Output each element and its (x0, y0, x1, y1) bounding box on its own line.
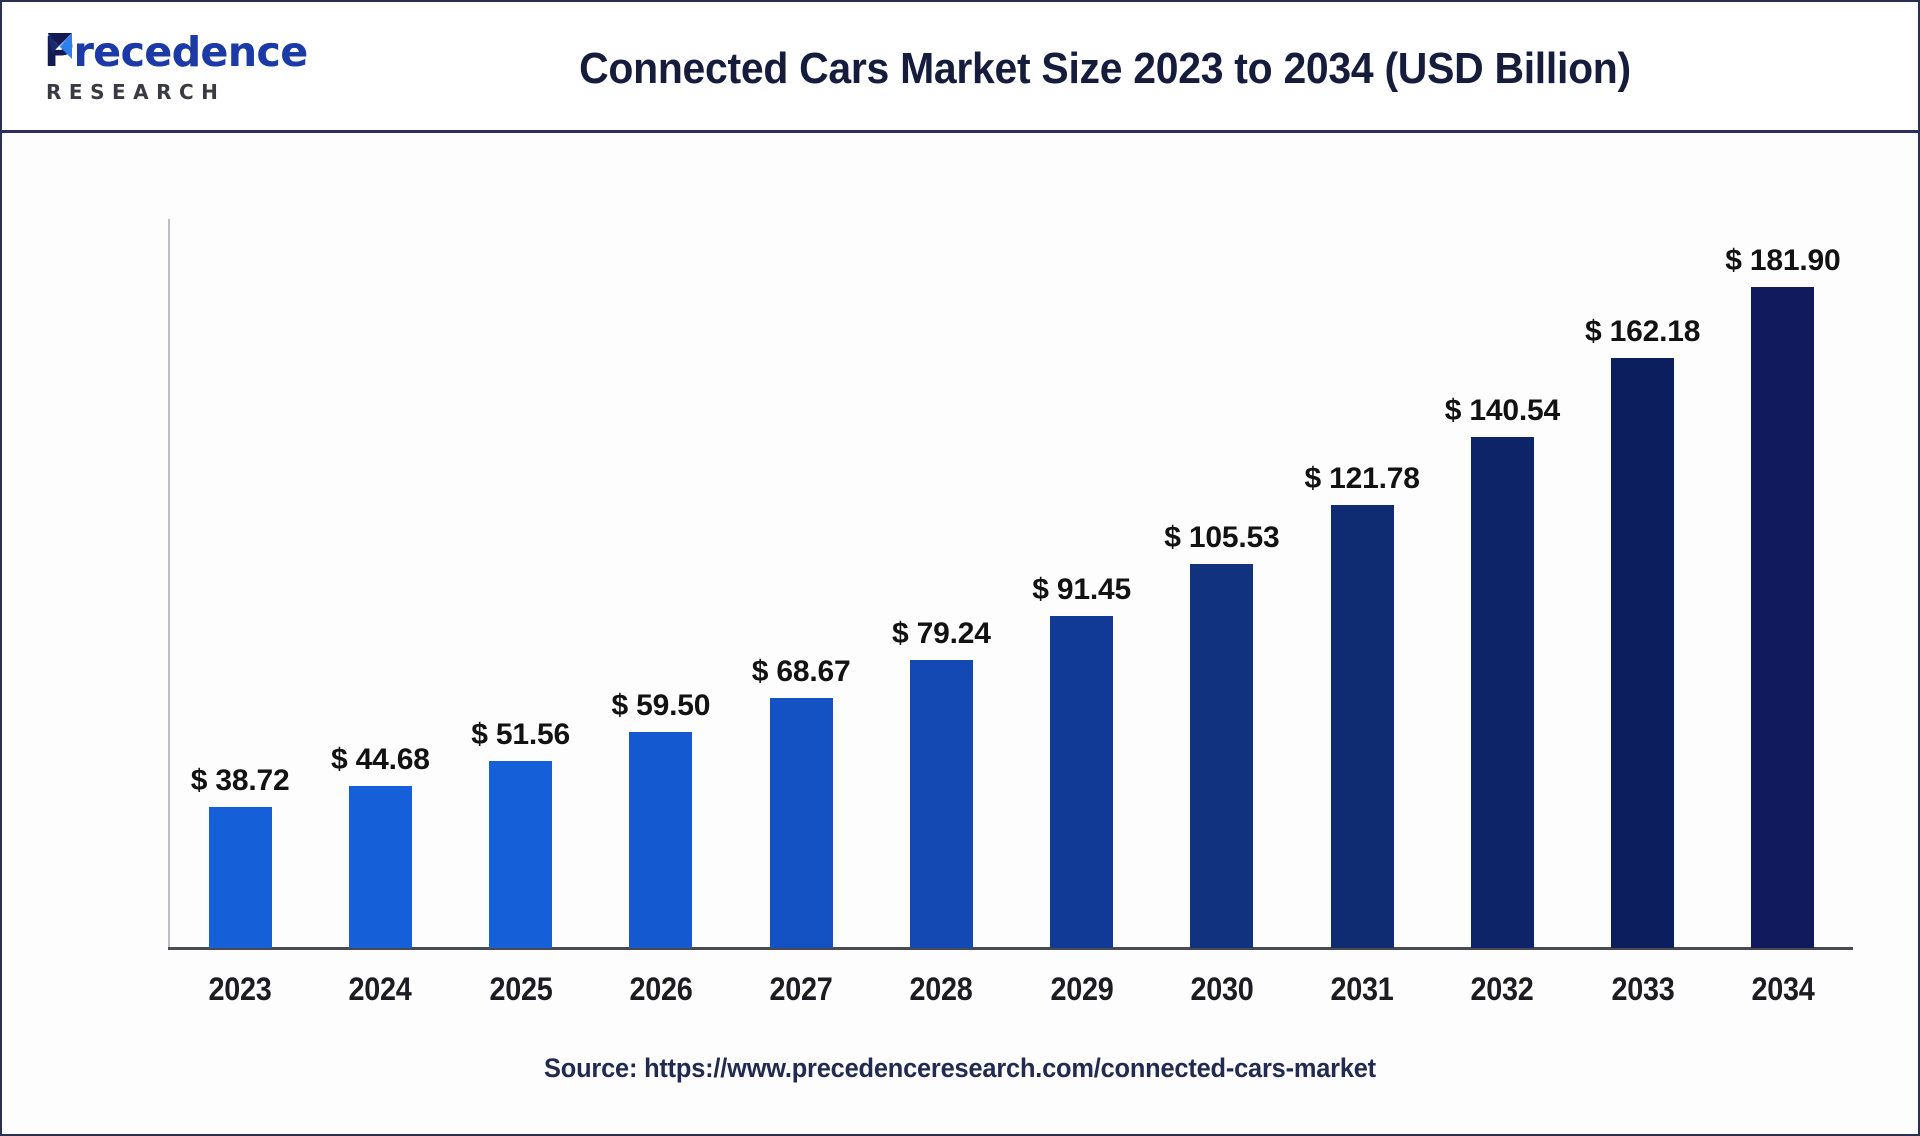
bar-group: $ 121.78 (1292, 173, 1432, 948)
source-caption: Source: https://www.precedenceresearch.c… (59, 1053, 1860, 1084)
bar-value-label: $ 140.54 (1445, 394, 1560, 428)
bar-rect (910, 660, 973, 948)
bar-group: $ 44.68 (310, 173, 450, 948)
bar-group: $ 162.18 (1573, 173, 1713, 948)
bar-value-label: $ 79.24 (892, 617, 991, 651)
bar-rect (1471, 437, 1534, 948)
x-axis-label-2025: 2025 (458, 971, 584, 1008)
x-axis-label-2023: 2023 (177, 971, 303, 1008)
bar-group: $ 38.72 (170, 173, 310, 948)
bar-group: $ 79.24 (871, 173, 1011, 948)
bar-value-label: $ 51.56 (471, 718, 570, 752)
bar-group: $ 68.67 (731, 173, 871, 948)
x-axis-label-2033: 2033 (1580, 971, 1706, 1008)
bar-value-label: $ 91.45 (1032, 573, 1131, 607)
page-header: Precedence RESEARCH Connected Cars Marke… (2, 2, 1918, 133)
bar-value-label: $ 38.72 (191, 764, 290, 798)
bar-value-label: $ 44.68 (331, 743, 430, 777)
bar-value-label: $ 59.50 (612, 689, 711, 723)
x-axis-label-2024: 2024 (317, 971, 443, 1008)
x-axis-label-2031: 2031 (1299, 971, 1425, 1008)
x-axis-label-2032: 2032 (1439, 971, 1565, 1008)
x-axis-label-2034: 2034 (1720, 971, 1846, 1008)
bar-rect (1751, 287, 1814, 948)
bar-rect (1331, 505, 1394, 948)
bar-rect (629, 732, 692, 948)
bar-rect (1050, 616, 1113, 948)
x-axis-label-2029: 2029 (1019, 971, 1145, 1008)
chart-title: Connected Cars Market Size 2023 to 2034 … (386, 44, 1824, 94)
chart-plot-area: $ 38.72$ 44.68$ 51.56$ 59.50$ 68.67$ 79.… (2, 133, 1918, 1134)
bar-rect (349, 786, 412, 948)
bar-rect (1190, 564, 1253, 948)
bar-group: $ 140.54 (1432, 173, 1572, 948)
bar-rect (1611, 358, 1674, 948)
bar-rect (489, 761, 552, 948)
logo-subtitle: RESEARCH (46, 80, 225, 104)
bar-group: $ 181.90 (1713, 173, 1853, 948)
x-axis-label-2028: 2028 (878, 971, 1004, 1008)
bar-group: $ 59.50 (591, 173, 731, 948)
bar-value-label: $ 181.90 (1725, 244, 1840, 278)
bar-value-label: $ 68.67 (752, 655, 851, 689)
x-axis-label-2030: 2030 (1159, 971, 1285, 1008)
bar-group: $ 105.53 (1152, 173, 1292, 948)
precedence-research-logo: Precedence RESEARCH (36, 28, 326, 110)
bar-value-label: $ 105.53 (1164, 521, 1279, 555)
bar-rect (209, 807, 272, 948)
bar-group: $ 91.45 (1012, 173, 1152, 948)
bar-rect (770, 698, 833, 948)
bar-value-label: $ 121.78 (1305, 462, 1420, 496)
x-axis-tick-labels: 2023202420252026202720282029203020312032… (170, 971, 1853, 1008)
x-axis-label-2027: 2027 (738, 971, 864, 1008)
logo-wordmark-rest: recedence (74, 28, 308, 76)
x-axis-label-2026: 2026 (598, 971, 724, 1008)
bar-series: $ 38.72$ 44.68$ 51.56$ 59.50$ 68.67$ 79.… (170, 173, 1853, 948)
chart-page: Precedence RESEARCH Connected Cars Marke… (0, 0, 1920, 1136)
precedence-arrow-icon (46, 29, 88, 73)
bar-group: $ 51.56 (451, 173, 591, 948)
bar-value-label: $ 162.18 (1585, 315, 1700, 349)
